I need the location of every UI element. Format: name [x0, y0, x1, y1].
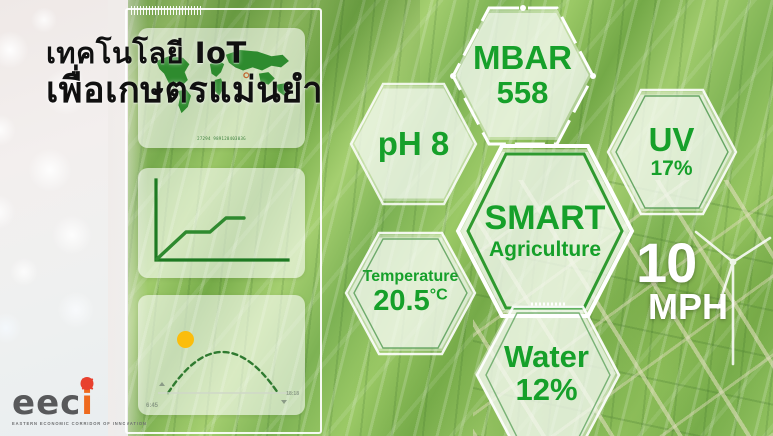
eeci-letter-e1: e — [12, 390, 34, 418]
headline-line-1: เทคโนโลยี IoT — [46, 36, 323, 70]
eeci-wordmark: e e c i — [12, 390, 120, 418]
hexagon-temperature-value: 20.5°C — [373, 287, 447, 317]
hexagon-mbar-label: MBAR — [473, 41, 572, 75]
map-barcode-text: 27294 98912840303G — [197, 136, 246, 141]
line-chart — [138, 168, 305, 278]
line-chart-card — [138, 168, 305, 278]
eeci-letter-c: c — [60, 390, 79, 418]
hexagon-temperature-label: Temperature — [363, 269, 459, 285]
eeci-spark-icon — [81, 377, 94, 390]
hexagon-smart-label: SMART — [485, 201, 606, 236]
headline-line-2: เพื่อเกษตรแม่นยำ — [46, 70, 323, 112]
eeci-logo: e e c i EASTERN ECONOMIC CORRIDOR OF INN… — [12, 390, 120, 426]
hexagon-uv-value: 17% — [650, 158, 692, 179]
hexagon-mbar-value: 558 — [497, 77, 549, 109]
sun-marker-icon — [177, 331, 194, 348]
hexagon-water-value: 12% — [515, 374, 577, 406]
temperature-unit: °C — [430, 287, 448, 304]
frame-tick-decoration — [131, 6, 203, 15]
wind-speed-unit: MPH — [648, 288, 728, 326]
infographic-canvas: e e c i EASTERN ECONOMIC CORRIDOR OF INN… — [0, 0, 773, 436]
wind-speed-readout: 10 MPH — [636, 238, 728, 326]
daylight-arc-card: 6:45 18:18 — [138, 295, 305, 415]
hexagon-water-label: Water — [504, 341, 589, 373]
hexagon-smart-value: Agriculture — [489, 239, 601, 260]
sunrise-time: 6:45 — [146, 403, 158, 409]
temperature-number: 20.5 — [373, 285, 429, 317]
eeci-letter-e2: e — [36, 390, 58, 418]
wind-speed-value: 10 — [636, 238, 728, 288]
sunset-time: 18:18 — [286, 391, 299, 397]
sun-times: 6:45 18:18 — [138, 389, 305, 409]
hexagon-uv-label: UV — [649, 123, 695, 157]
hexagon-ph-label: pH 8 — [378, 127, 450, 161]
page-title: เทคโนโลยี IoT เพื่อเกษตรแม่นยำ — [46, 36, 323, 112]
eeci-letter-i: i — [81, 390, 93, 418]
